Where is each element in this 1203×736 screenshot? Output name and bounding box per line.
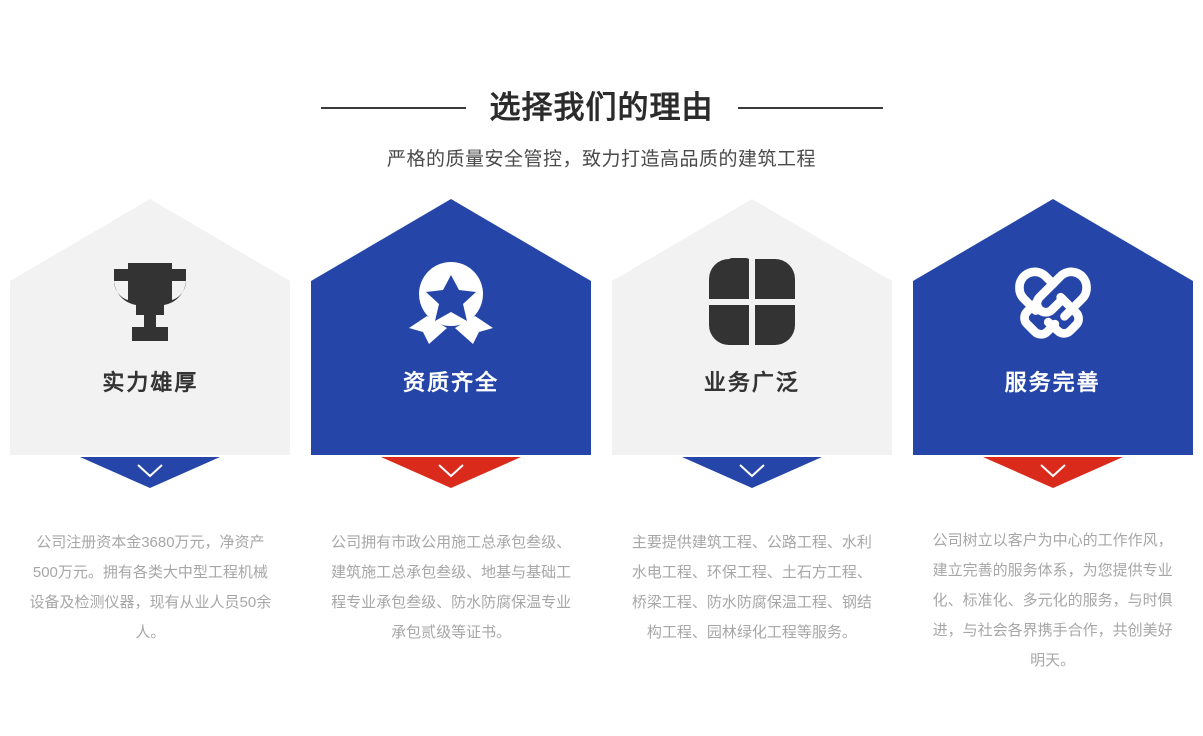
hexagon-polygon [10, 199, 290, 455]
card-description: 公司注册资本金3680万元，净资产500万元。拥有各类大中型工程机械设备及检测仪… [26, 528, 274, 648]
hexagon-tab[interactable] [609, 457, 895, 489]
card-description: 主要提供建筑工程、公路工程、水利水电工程、环保工程、土石方工程、桥梁工程、防水防… [628, 528, 876, 648]
hexagon-tab[interactable] [910, 457, 1196, 489]
tab-triangle [983, 457, 1123, 488]
divider-line-left [321, 107, 466, 109]
divider-line-right [738, 107, 883, 109]
page-subtitle: 严格的质量安全管控，致力打造高品质的建筑工程 [0, 146, 1203, 174]
tab-triangle [682, 457, 822, 488]
hexagon-shape [7, 196, 293, 458]
section-header: 选择我们的理由 严格的质量安全管控，致力打造高品质的建筑工程 [0, 0, 1203, 174]
hexagon-badge[interactable]: 实力雄厚 [7, 196, 293, 488]
tab-triangle [381, 457, 521, 488]
hexagon-shape [308, 196, 594, 458]
hexagon-badge[interactable]: 服务完善 [910, 196, 1196, 486]
hexagon-badge[interactable]: 资质齐全 [308, 196, 594, 488]
feature-card-list: 实力雄厚 公司注册资本金3680万元，净资产500万元。拥有各类大中型工程机械设… [0, 196, 1203, 676]
page-title: 选择我们的理由 [490, 88, 714, 128]
feature-card[interactable]: 业务广泛 主要提供建筑工程、公路工程、水利水电工程、环保工程、土石方工程、桥梁工… [602, 196, 903, 676]
feature-section: 选择我们的理由 严格的质量安全管控，致力打造高品质的建筑工程 [0, 0, 1203, 736]
hexagon-polygon [612, 199, 892, 455]
card-description: 公司树立以客户为中心的工作作风，建立完善的服务体系，为您提供专业化、标准化、多元… [929, 526, 1177, 676]
hexagon-shape [609, 196, 895, 458]
hexagon-shape [910, 196, 1196, 458]
hexagon-polygon [913, 199, 1193, 455]
hexagon-tab[interactable] [308, 457, 594, 489]
title-row: 选择我们的理由 [0, 82, 1203, 134]
card-description: 公司拥有市政公用施工总承包叁级、建筑施工总承包叁级、地基与基础工程专业承包叁级、… [327, 528, 575, 648]
hexagon-badge[interactable]: 业务广泛 [609, 196, 895, 488]
hexagon-polygon [311, 199, 591, 455]
hexagon-tab[interactable] [7, 457, 293, 489]
tab-triangle [80, 457, 220, 488]
feature-card[interactable]: 资质齐全 公司拥有市政公用施工总承包叁级、建筑施工总承包叁级、地基与基础工程专业… [301, 196, 602, 676]
feature-card[interactable]: 服务完善 公司树立以客户为中心的工作作风，建立完善的服务体系，为您提供专业化、标… [902, 196, 1203, 676]
feature-card[interactable]: 实力雄厚 公司注册资本金3680万元，净资产500万元。拥有各类大中型工程机械设… [0, 196, 301, 676]
